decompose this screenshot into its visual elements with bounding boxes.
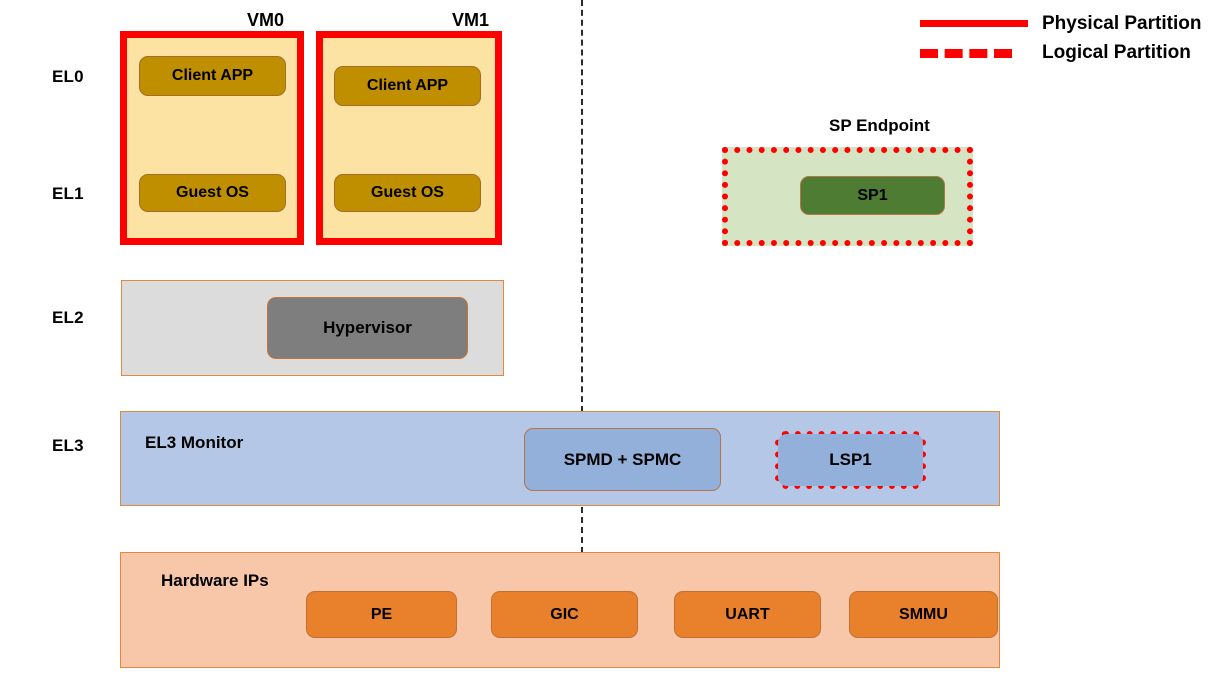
legend-item-physical-partition: Physical Partition [920,10,1201,37]
hardware-ips-title: Hardware IPs [161,571,269,591]
hardware-ips-band: Hardware IPs PE GIC UART SMMU [120,552,1000,668]
hardware-ip-uart[interactable]: UART [674,591,821,638]
el3-band: EL3 Monitor SPMD + SPMC LSP1 [120,411,1000,506]
hardware-ip-pe[interactable]: PE [306,591,457,638]
el2-band: Hypervisor [121,280,504,376]
el3-monitor-title: EL3 Monitor [145,433,243,453]
solid-line-icon [920,20,1028,27]
el-label-el0: EL0 [52,67,84,87]
dashed-line-icon [920,49,1012,58]
lsp1-node[interactable]: LSP1 [778,434,923,486]
sp-endpoint-title: SP Endpoint [829,116,930,136]
vm1-title: VM1 [452,10,489,31]
secure-world-divider-upper [581,0,583,412]
vm0-client-app[interactable]: Client APP [139,56,286,96]
vm1-physical-partition[interactable]: Client APP Guest OS [316,31,502,245]
vm0-title: VM0 [247,10,284,31]
hardware-ip-smmu[interactable]: SMMU [849,591,998,638]
legend-label-logical-partition: Logical Partition [1042,42,1191,64]
spmd-spmc-node[interactable]: SPMD + SPMC [524,428,721,491]
vm1-guest-os[interactable]: Guest OS [334,174,481,212]
el-label-el2: EL2 [52,308,84,328]
el-label-el3: EL3 [52,436,84,456]
diagram-canvas: Physical Partition Logical Partition EL0… [0,0,1220,696]
vm0-guest-os[interactable]: Guest OS [139,174,286,212]
sp1-node[interactable]: SP1 [800,176,945,215]
secure-world-divider-lower [581,507,583,553]
hypervisor-node[interactable]: Hypervisor [267,297,468,359]
vm0-physical-partition[interactable]: Client APP Guest OS [120,31,304,245]
hardware-ip-gic[interactable]: GIC [491,591,638,638]
vm1-client-app[interactable]: Client APP [334,66,481,106]
lsp1-logical-partition[interactable]: LSP1 [775,431,926,489]
legend-item-logical-partition: Logical Partition [920,37,1201,69]
sp-endpoint-logical-partition[interactable]: SP1 [722,147,973,246]
legend: Physical Partition Logical Partition [920,10,1201,69]
el-label-el1: EL1 [52,184,84,204]
legend-label-physical-partition: Physical Partition [1042,13,1201,35]
